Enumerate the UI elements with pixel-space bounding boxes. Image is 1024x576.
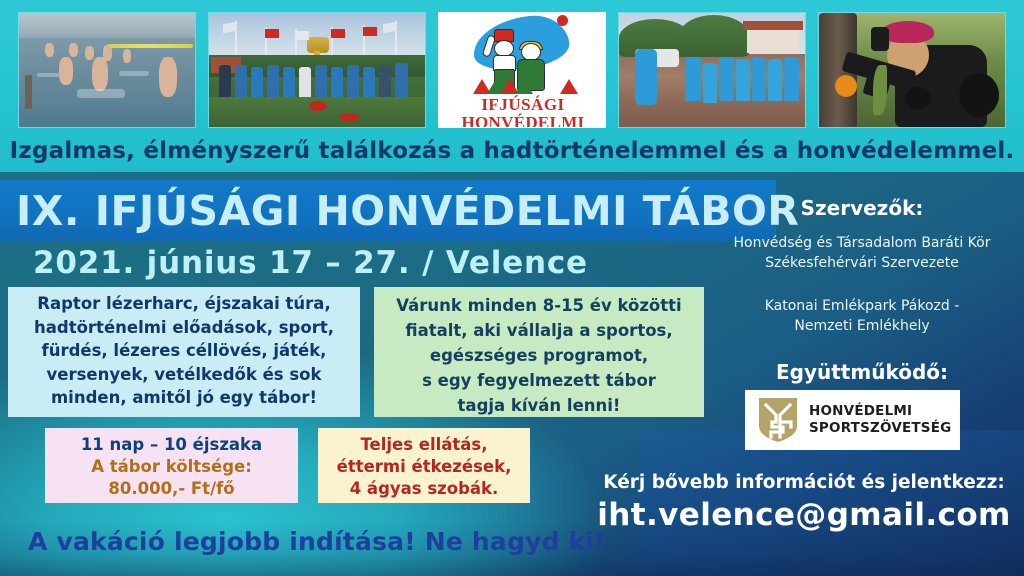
cooperation-logo-text: HONVÉDELMI SPORTSZÖVETSÉG (809, 403, 951, 437)
photo2-person (267, 65, 279, 99)
photo4-kid (635, 49, 657, 105)
photo4-kid (685, 57, 701, 101)
organizers-heading: Szervezők: (700, 196, 1024, 220)
meals-line-2: éttermi étkezések, (318, 456, 530, 478)
organizer-1-line-2: Székesfehérvári Szervezete (700, 253, 1024, 273)
slogan: A vakáció legjobb indítása! Ne hagyd ki! (28, 527, 606, 556)
photo1-swimmer (59, 57, 73, 85)
honvedelmi-sportszovetseg-shield-icon (757, 396, 799, 444)
programs-line-2: hadtörténelmi előadások, sport, (8, 316, 360, 340)
photo2-person (315, 65, 327, 99)
photo1-splash (119, 71, 149, 76)
photo-swimming-in-lake (18, 12, 196, 128)
tagline: Izgalmas, élményszerű találkozás a hadtö… (0, 138, 1024, 164)
photo-kids-marching (618, 12, 806, 128)
photo2-person (363, 67, 375, 99)
coop-logo-line-2: SPORTSZÖVETSÉG (809, 420, 951, 437)
programs-line-3: fürdés, lézeres céllövés, játék, (8, 339, 360, 363)
photo2-person (299, 67, 311, 99)
photo5-foliage (873, 65, 887, 115)
who-line-3: egészséges programot, (374, 343, 704, 368)
organizer-2-line-1: Katonai Emlékpark Pákozd - (700, 296, 1024, 316)
page-title: IX. IFJÚSÁGI HONVÉDELMI TÁBOR (16, 184, 764, 238)
cooperation-logo: HONVÉDELMI SPORTSZÖVETSÉG (745, 390, 960, 450)
photo4-kid (768, 59, 782, 101)
photo5-glove (905, 87, 931, 109)
price-box: 11 nap – 10 éjszaka A tábor költsége: 80… (45, 428, 298, 503)
programs-line-4: versenyek, vetélkedők és sok (8, 363, 360, 387)
who-line-5: tagja kíván lenni! (374, 393, 704, 418)
price-duration: 11 nap – 10 éjszaka (45, 434, 298, 456)
photo1-post (25, 75, 32, 109)
photo1-splash (37, 73, 59, 77)
photo4-kid (752, 57, 766, 101)
who-line-2: fiatalt, aki vállalja a sportos, (374, 318, 704, 343)
photo4-kid (736, 59, 750, 101)
organizer-1: Honvédség és Társadalom Baráti Kör Széke… (700, 233, 1024, 273)
poster-canvas: IFJÚSÁGI HONVÉDELMI TÁBOR (0, 0, 1024, 576)
eligibility-box: Várunk minden 8-15 év közötti fiatalt, a… (374, 287, 704, 417)
photo4-kid (703, 63, 717, 103)
photo1-swimmer (45, 43, 54, 57)
photo1-sky (19, 13, 195, 38)
logo-text-line1: IFJÚSÁGI (439, 95, 606, 115)
price-label: A tábor költsége: (45, 456, 298, 478)
photo1-swimmer (69, 43, 78, 57)
photo2-person (379, 65, 391, 99)
who-line-1: Várunk minden 8-15 év közötti (374, 293, 704, 318)
lake-dot-icon (557, 15, 568, 26)
photo4-kid (719, 57, 734, 101)
accommodation-box: Teljes ellátás, éttermi étkezések, 4 ágy… (318, 428, 530, 503)
photo4-kid (784, 57, 799, 101)
photo2-person (347, 65, 359, 99)
photo2-person (283, 67, 295, 99)
organizer-2-line-2: Nemzeti Emlékhely (700, 316, 1024, 336)
coop-logo-line-1: HONVÉDELMI (809, 403, 951, 420)
photo2-flowers (339, 113, 359, 122)
photo1-swimmer (123, 49, 131, 63)
logo-triangle-red-icon (560, 79, 578, 94)
photo1-swimmer (92, 57, 108, 91)
programs-box: Raptor lézerharc, éjszakai túra, hadtört… (8, 287, 360, 417)
meals-line-3: 4 ágyas szobák. (318, 478, 530, 500)
logo-triangle-green-icon (515, 79, 533, 94)
meals-line-1: Teljes ellátás, (318, 434, 530, 456)
photo1-buoy-line (107, 44, 193, 48)
logo-text-line2: HONVÉDELMI TÁBOR (439, 113, 606, 128)
organizer-2: Katonai Emlékpark Pákozd - Nemzeti Emlék… (700, 296, 1024, 336)
programs-line-5: minden, amitől jó egy tábor! (8, 386, 360, 410)
photo2-flowers (309, 101, 327, 111)
who-line-4: s egy fegyelmezett tábor (374, 368, 704, 393)
photo2-flag (331, 29, 345, 38)
photo1-swimmer (85, 46, 94, 60)
photo2-person (235, 65, 247, 99)
photo1-splash (77, 89, 125, 98)
photo5-player-cap (882, 21, 934, 43)
contact-prompt: Kérj bővebb információt és jelentkezz: (584, 472, 1024, 493)
photo-group-at-monument (208, 12, 426, 128)
programs-line-1: Raptor lézerharc, éjszakai túra, (8, 292, 360, 316)
organizer-1-line-1: Honvédség és Társadalom Baráti Kör (700, 233, 1024, 253)
photo4-trees (679, 15, 749, 57)
photo2-flag (363, 27, 377, 36)
date-and-location: 2021. június 17 – 27. / Velence (33, 245, 588, 281)
photo2-person (219, 65, 231, 99)
photo-camp-logo: IFJÚSÁGI HONVÉDELMI TÁBOR (438, 12, 606, 128)
photo2-flag (265, 29, 279, 38)
photo-strip: IFJÚSÁGI HONVÉDELMI TÁBOR (0, 0, 1024, 140)
price-amount: 80.000,- Ft/fő (45, 478, 298, 500)
photo2-person (331, 67, 343, 99)
contact-email[interactable]: iht.velence@gmail.com (584, 497, 1024, 533)
photo2-person (395, 63, 408, 99)
photo2-person (251, 67, 263, 99)
photo2-flag (295, 31, 309, 40)
photo4-roof (743, 21, 803, 30)
photo4-house (747, 27, 799, 53)
photo-laser-tag-player (818, 12, 1006, 128)
photo5-elbow-pad (959, 73, 999, 117)
photo5-gun-muzzle (835, 75, 857, 97)
photo5-helmet-cam (871, 27, 889, 51)
photo1-swimmer (159, 57, 177, 97)
cooperation-heading: Együttműködő: (700, 360, 1024, 384)
